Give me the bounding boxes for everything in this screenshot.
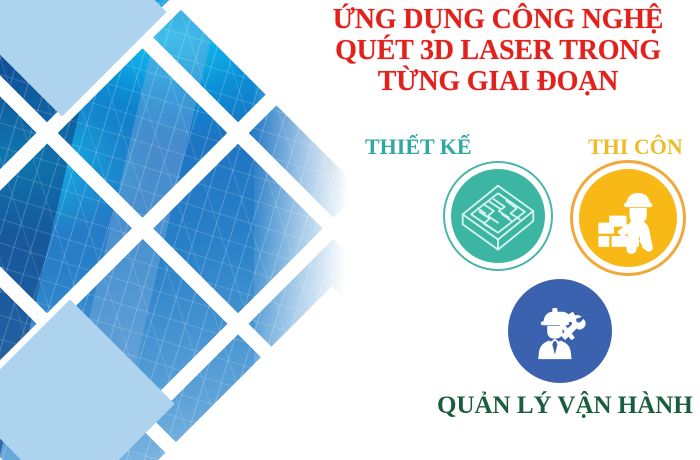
stage-icon-design[interactable]	[443, 161, 553, 271]
design-disc	[451, 169, 545, 263]
title-line-3: TỪNG GIAI ĐOẠN	[296, 66, 700, 97]
poster-title: ỨNG DỤNG CÔNG NGHỆ QUÉT 3D LASER TRONG T…	[296, 4, 700, 97]
title-line-2: QUÉT 3D LASER TRONG	[296, 35, 700, 66]
stage-label-construction: THI CÔN	[588, 134, 683, 160]
stage-label-operation: QUẢN LÝ VẬN HÀNH	[437, 392, 693, 420]
bricklayer-worker-icon	[589, 179, 667, 257]
isometric-floor-plan-icon	[456, 174, 540, 258]
engineer-with-tools-icon	[528, 299, 592, 363]
stage-icon-operation[interactable]	[508, 279, 612, 383]
stage-label-design: THIẾT KẾ	[365, 134, 472, 160]
poster-canvas: ỨNG DỤNG CÔNG NGHỆ QUÉT 3D LASER TRONG T…	[0, 0, 700, 460]
construction-disc	[579, 169, 677, 267]
stage-icon-construction[interactable]	[570, 160, 686, 276]
title-line-1: ỨNG DỤNG CÔNG NGHỆ	[296, 4, 700, 35]
